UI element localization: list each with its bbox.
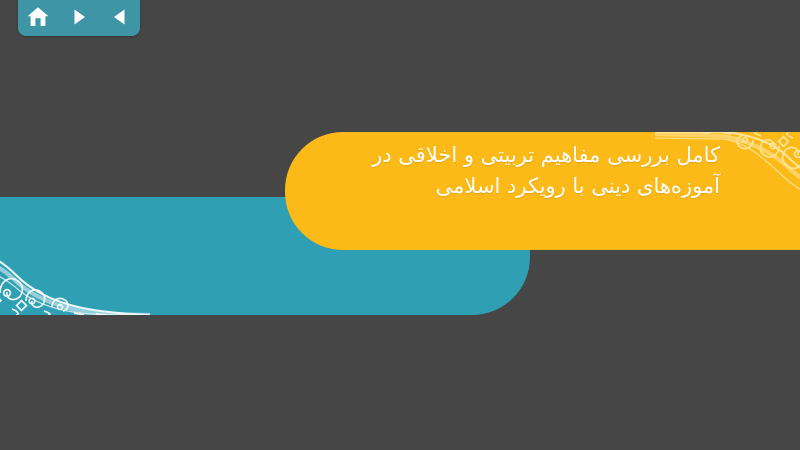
- back-arrow-icon: [109, 6, 131, 28]
- arabesque-ornament: [0, 197, 150, 315]
- home-icon: [26, 5, 50, 29]
- navigation-toolbar: [18, 0, 140, 36]
- title-line-2: آموزه‌های دینی با رویکرد اسلامی: [300, 171, 720, 202]
- slide-canvas: کامل بررسی مفاهیم تربیتی و اخلاقی در آمو…: [0, 0, 800, 450]
- forward-button[interactable]: [64, 3, 94, 31]
- back-button[interactable]: [105, 3, 135, 31]
- forward-arrow-icon: [68, 6, 90, 28]
- page-title: کامل بررسی مفاهیم تربیتی و اخلاقی در آمو…: [300, 140, 720, 202]
- home-button[interactable]: [23, 3, 53, 31]
- title-line-1: کامل بررسی مفاهیم تربیتی و اخلاقی در: [300, 140, 720, 171]
